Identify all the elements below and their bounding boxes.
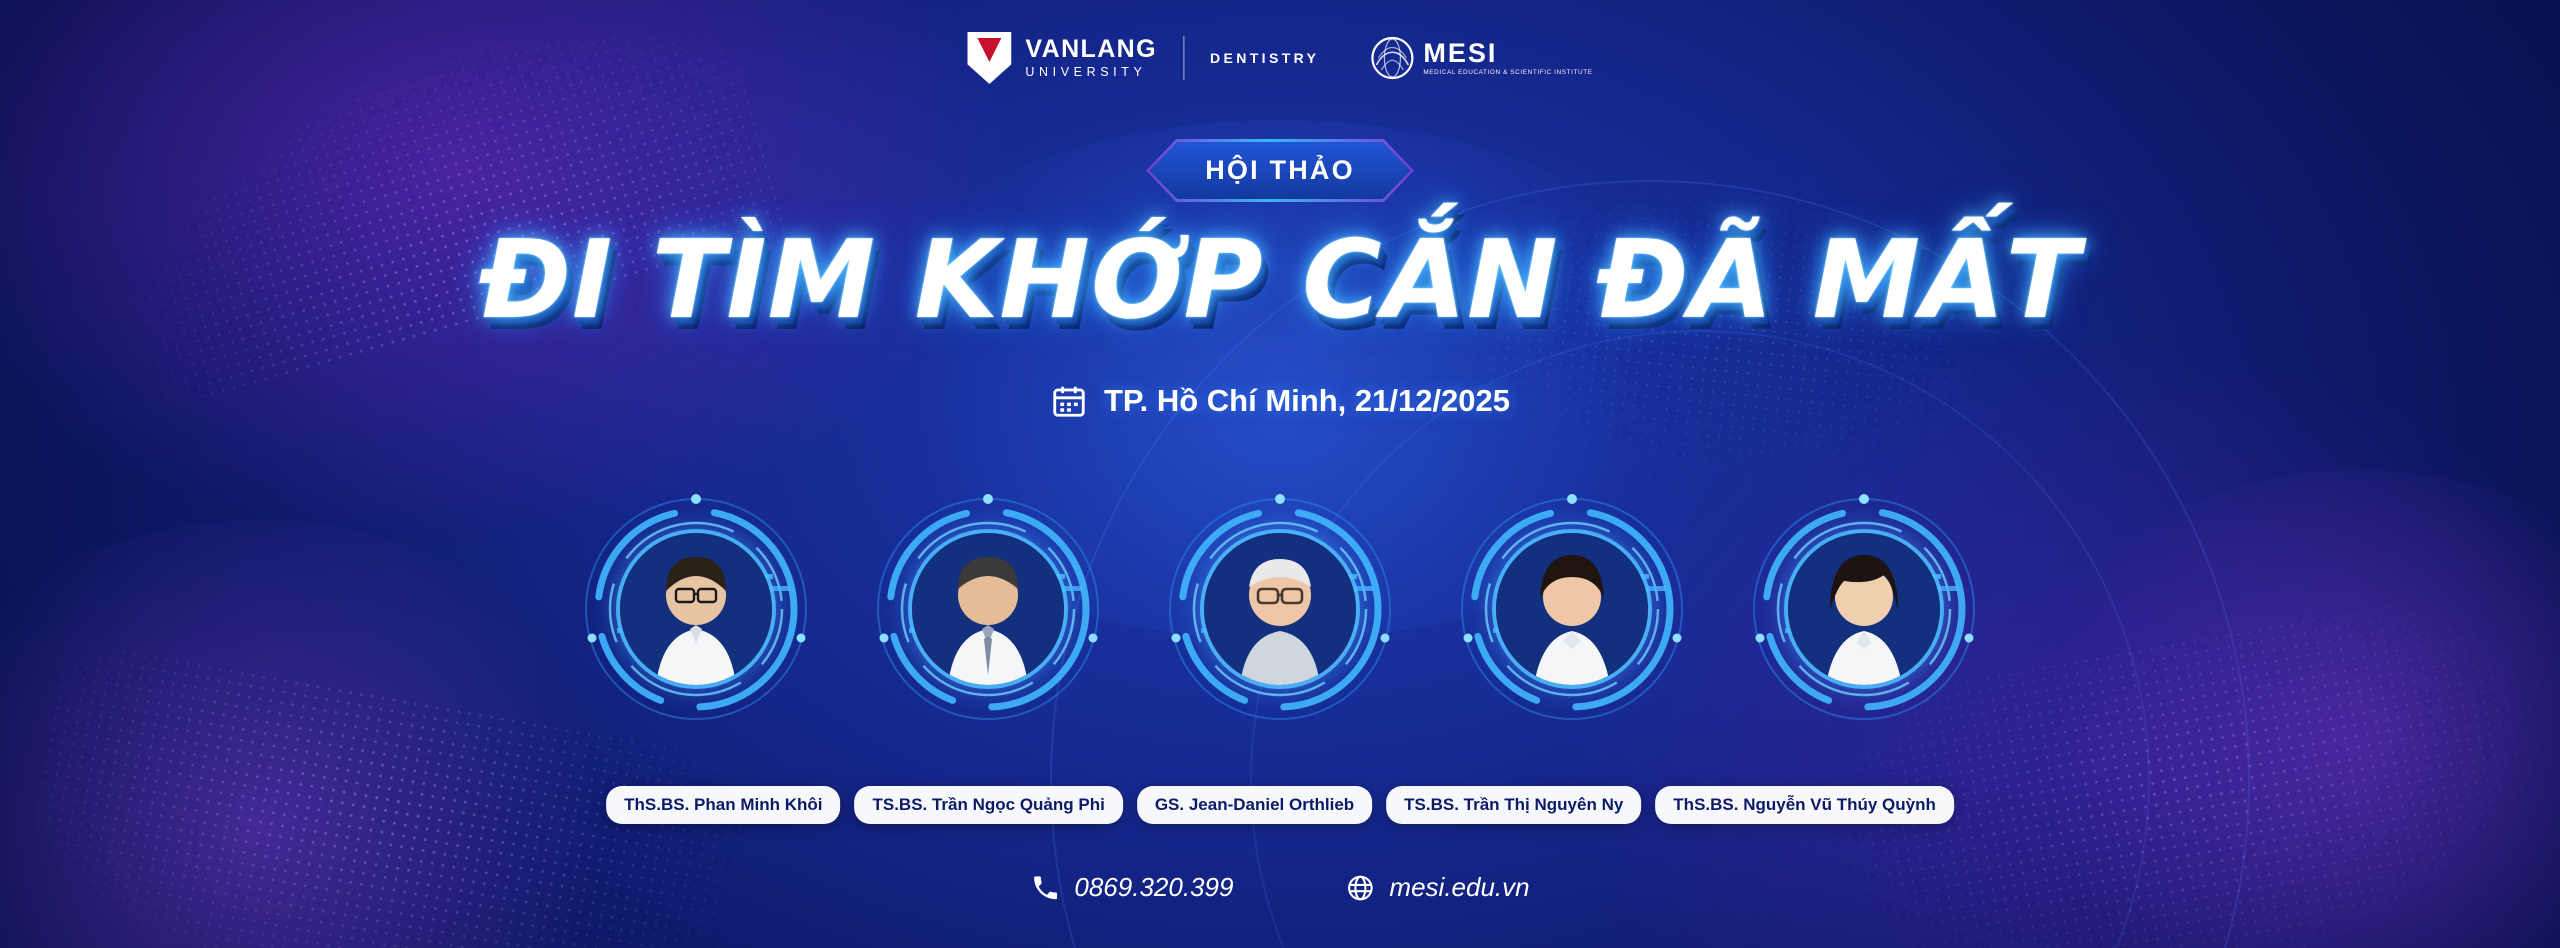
- speaker-ring: [1733, 478, 1995, 740]
- speaker-avatar-4: [1496, 533, 1648, 685]
- speaker-avatar-5: [1788, 533, 1940, 685]
- phone-icon: [1030, 873, 1060, 903]
- logo-divider: [1183, 36, 1184, 80]
- speaker-avatar-3: [1204, 533, 1356, 685]
- ribbon-label: HỘI THẢO: [1149, 142, 1411, 199]
- date-location-text: TP. Hồ Chí Minh, 21/12/2025: [1104, 383, 1510, 419]
- website-url: mesi.edu.vn: [1389, 872, 1529, 903]
- speaker-ring: [1149, 478, 1411, 740]
- website-contact[interactable]: mesi.edu.vn: [1345, 872, 1529, 903]
- speaker-item: [857, 478, 1119, 740]
- decor-dot-field: [32, 0, 788, 431]
- mesi-mark-icon: [1369, 35, 1415, 81]
- date-location-row: TP. Hồ Chí Minh, 21/12/2025: [1050, 382, 1510, 420]
- globe-icon: [1345, 873, 1375, 903]
- speaker-ring: [857, 478, 1119, 740]
- logo-bar: VANLANG UNIVERSITY DENTISTRY MESI MEDICA…: [967, 28, 1592, 88]
- seminar-banner: VANLANG UNIVERSITY DENTISTRY MESI MEDICA…: [0, 0, 2560, 948]
- mesi-logo: MESI MEDICAL EDUCATION & SCIENTIFIC INST…: [1369, 35, 1592, 81]
- speaker-name-tag: ThS.BS. Nguyễn Vũ Thúy Quỳnh: [1655, 786, 1954, 824]
- speaker-item: [1441, 478, 1703, 740]
- decor-glow: [2010, 470, 2560, 948]
- vanlang-shield-icon: [967, 32, 1011, 84]
- phone-number: 0869.320.399: [1074, 872, 1233, 903]
- speaker-name-tag: GS. Jean-Daniel Orthlieb: [1137, 786, 1372, 824]
- speaker-name-list: ThS.BS. Phan Minh Khôi TS.BS. Trần Ngọc …: [606, 786, 1954, 824]
- speaker-avatar-2: [912, 533, 1064, 685]
- contact-footer: 0869.320.399 mesi.edu.vn: [1030, 872, 1529, 903]
- speaker-item: [565, 478, 827, 740]
- speaker-ring: [565, 478, 827, 740]
- speaker-name-tag: ThS.BS. Phan Minh Khôi: [606, 786, 840, 824]
- speaker-avatar-1: [620, 533, 772, 685]
- mesi-tagline: MEDICAL EDUCATION & SCIENTIFIC INSTITUTE: [1423, 70, 1592, 76]
- mesi-name: MESI: [1423, 40, 1592, 67]
- phone-contact[interactable]: 0869.320.399: [1030, 872, 1233, 903]
- vanlang-logo-line2: UNIVERSITY: [1025, 66, 1157, 79]
- speaker-name-tag: TS.BS. Trần Thị Nguyên Ny: [1386, 786, 1641, 824]
- speaker-item: [1733, 478, 1995, 740]
- page-title: ĐI TÌM KHỚP CẮN ĐÃ MẤT: [480, 218, 2081, 343]
- vanlang-logo-line1: VANLANG: [1025, 37, 1157, 62]
- decor-glow: [0, 520, 640, 948]
- speaker-ring: [1441, 478, 1703, 740]
- speaker-list: [565, 478, 1995, 740]
- dentistry-label: DENTISTRY: [1210, 50, 1319, 66]
- speaker-item: [1149, 478, 1411, 740]
- calendar-icon: [1050, 382, 1088, 420]
- seminar-ribbon: HỘI THẢO: [1149, 142, 1411, 199]
- vanlang-university-logo: VANLANG UNIVERSITY: [967, 32, 1157, 84]
- speaker-name-tag: TS.BS. Trần Ngọc Quảng Phi: [854, 786, 1122, 824]
